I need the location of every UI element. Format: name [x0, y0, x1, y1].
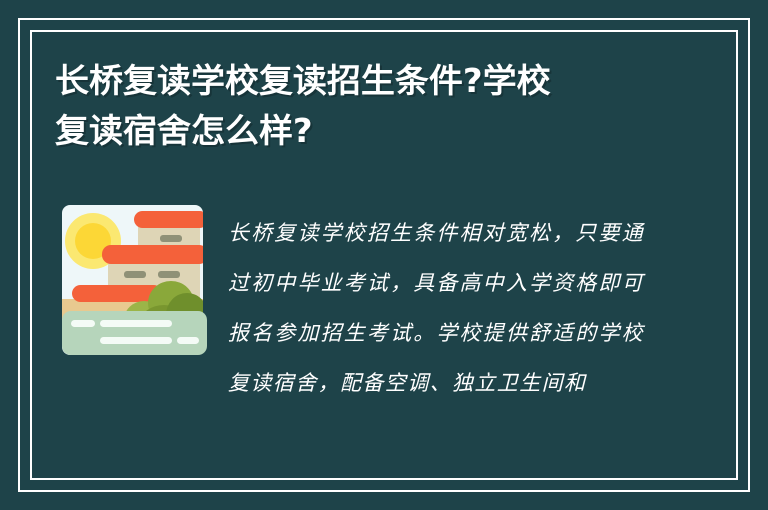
content-row: 长桥复读学校招生条件相对宽松，只要通过初中毕业考试，具备高中入学资格即可报名参加…	[0, 196, 768, 476]
title-line-1: 长桥复读学校复读招生条件?学校	[55, 56, 673, 106]
title-line-2: 复读宿舍怎么样?	[55, 106, 673, 156]
illustration-text-card	[62, 311, 207, 355]
roof-back	[134, 211, 203, 228]
roof-middle	[102, 245, 203, 264]
card-line-2	[100, 320, 172, 327]
poster-canvas: 长桥复读学校复读招生条件?学校 复读宿舍怎么样?	[0, 0, 768, 510]
window-middle-left	[124, 271, 146, 278]
card-line-3	[100, 337, 172, 344]
window-back	[160, 235, 182, 242]
window-middle-right	[158, 271, 180, 278]
card-line-1	[71, 320, 95, 327]
card-line-4	[177, 337, 199, 344]
campus-buildings-illustration	[62, 205, 207, 355]
page-title: 长桥复读学校复读招生条件?学校 复读宿舍怎么样?	[55, 56, 655, 156]
body-paragraph: 长桥复读学校招生条件相对宽松，只要通过初中毕业考试，具备高中入学资格即可报名参加…	[228, 208, 644, 408]
